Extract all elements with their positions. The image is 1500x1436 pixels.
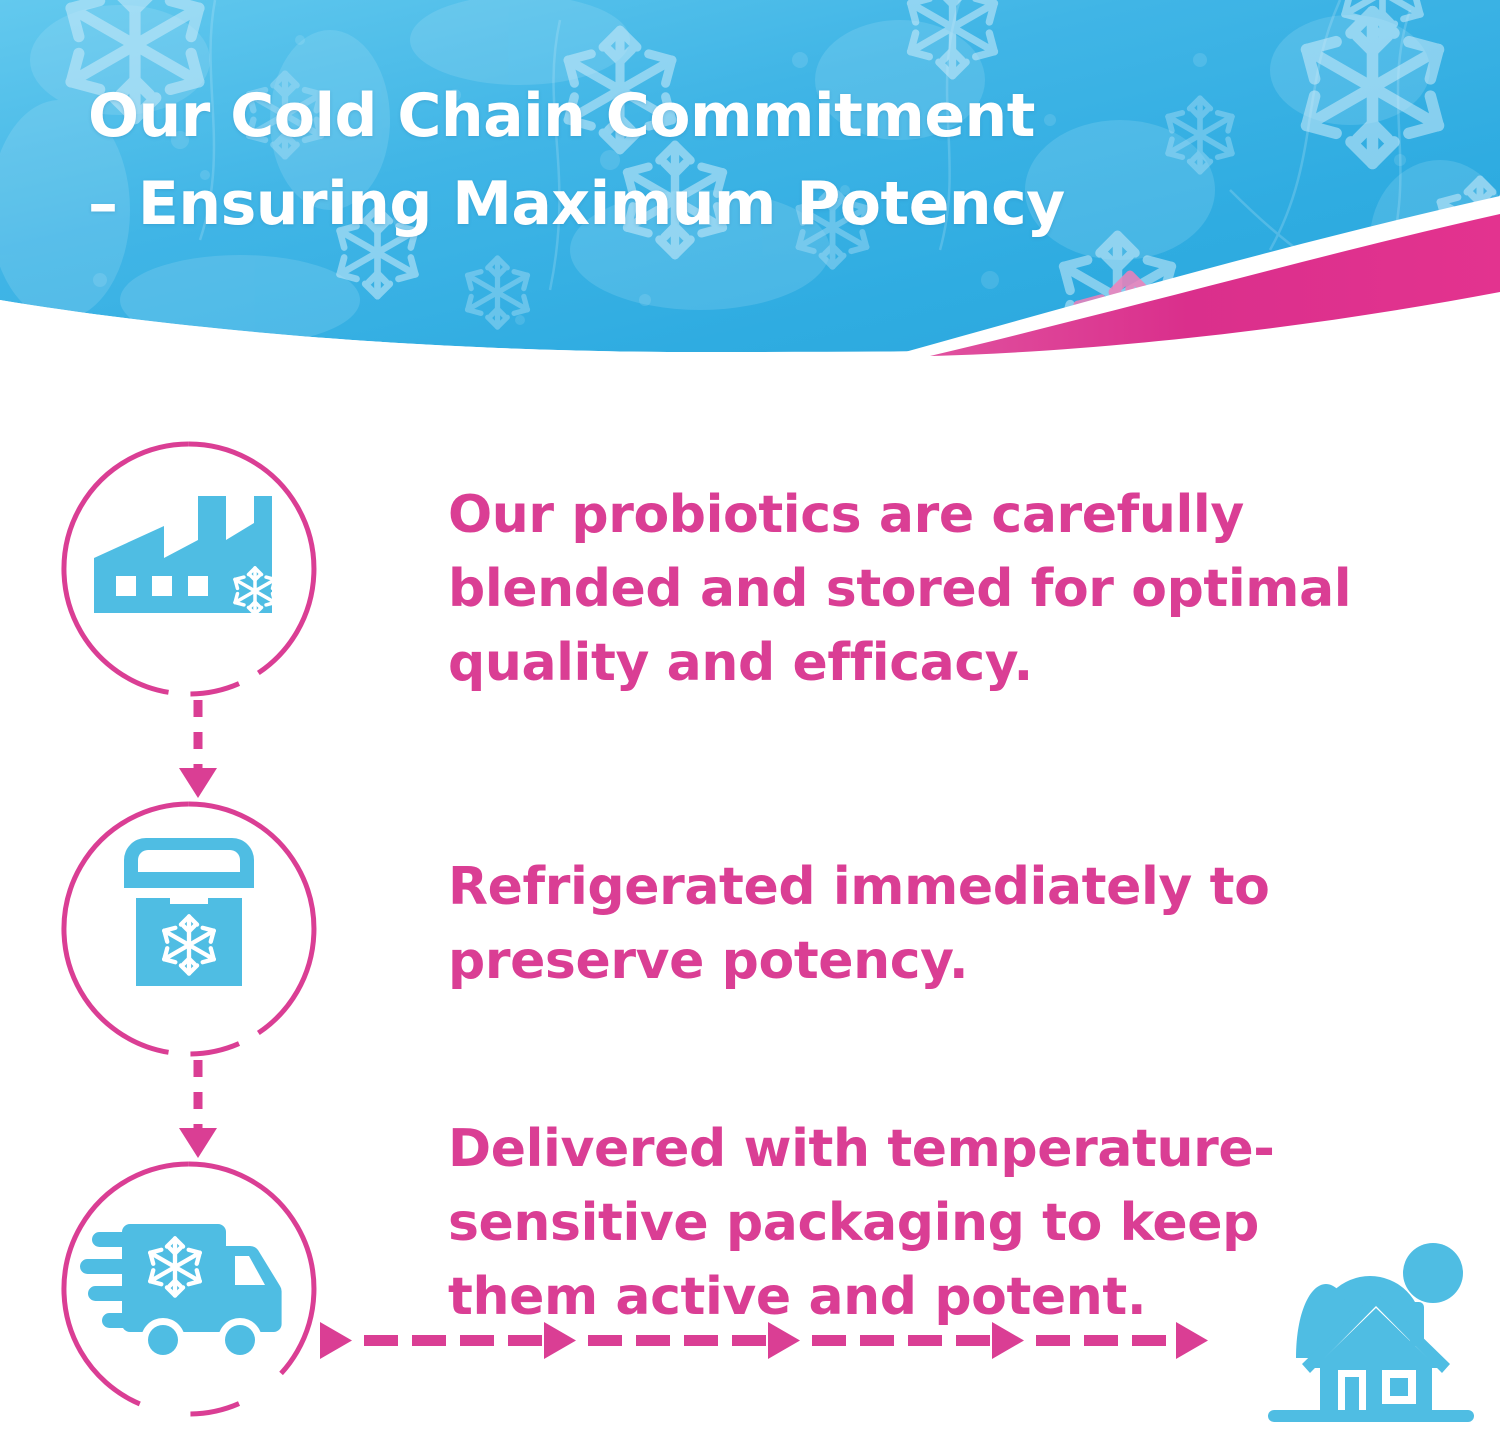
step-3-text-line-2: sensitive packaging to keep [448, 1186, 1274, 1260]
destination-illustration [1258, 1218, 1484, 1433]
delivery-truck-snowflake-icon [58, 1158, 320, 1420]
ground-line [1268, 1410, 1474, 1422]
step-2-text-line-2: preserve potency. [448, 924, 1269, 998]
step-3-circle [58, 1158, 320, 1425]
step-1-text: Our probiotics are carefully blended and… [448, 478, 1351, 700]
step-1-text-line-3: quality and efficacy. [448, 626, 1351, 700]
arrow-right-dashed-icon [320, 1318, 1210, 1364]
step-3-text-line-1: Delivered with temperature- [448, 1112, 1274, 1186]
connector-2-3 [178, 1058, 218, 1169]
arrow-down-dashed-icon [178, 698, 218, 804]
step-2-text-line-1: Refrigerated immediately to [448, 850, 1269, 924]
cooler-box-snowflake-icon [58, 798, 320, 1060]
arrow-down-dashed-icon [178, 1058, 218, 1164]
step-1-text-line-1: Our probiotics are carefully [448, 478, 1351, 552]
sun-icon [1403, 1243, 1463, 1303]
step-2-text: Refrigerated immediately to preserve pot… [448, 850, 1269, 998]
house-trees-sun-icon [1258, 1218, 1484, 1428]
step-1-circle [58, 438, 320, 705]
step-2-circle [58, 798, 320, 1065]
cold-chain-steps: Our probiotics are carefully blended and… [0, 0, 1500, 1436]
step-3-text: Delivered with temperature- sensitive pa… [448, 1112, 1274, 1334]
delivery-destination-arrow [320, 1318, 1210, 1369]
factory-snowflake-icon [58, 438, 320, 700]
connector-1-2 [178, 698, 218, 809]
step-1-text-line-2: blended and stored for optimal [448, 552, 1351, 626]
